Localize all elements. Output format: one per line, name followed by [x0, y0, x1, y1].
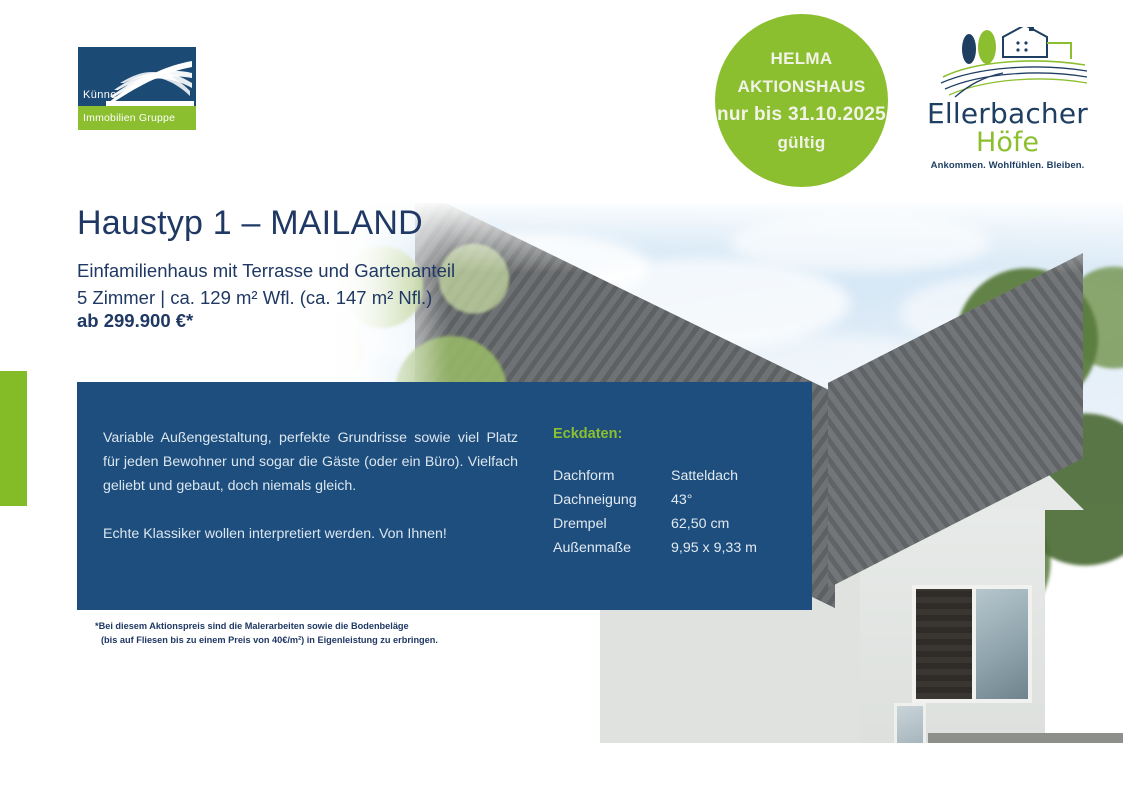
- specs-block: Eckdaten: Dachform Satteldach Dachneigun…: [553, 426, 757, 560]
- info-panel: Variable Außengestaltung, perfekte Grund…: [77, 382, 812, 610]
- flyer-page: Künne Immobilien Gruppe HELMA AKTIONSHAU…: [0, 0, 1123, 794]
- page-subtitle: Einfamilienhaus mit Terrasse und Gartena…: [77, 258, 455, 311]
- spec-key: Dachneigung: [553, 488, 671, 512]
- spec-key: Drempel: [553, 512, 671, 536]
- specs-heading: Eckdaten:: [553, 426, 757, 442]
- small-window: [894, 703, 926, 743]
- ellerbacher-hoefe-logo[interactable]: Ellerbacher Höfe Ankommen. Wohlfühlen. B…: [925, 27, 1090, 182]
- kunne-logo[interactable]: Künne Immobilien Gruppe: [78, 47, 196, 130]
- spec-value: 62,50 cm: [671, 512, 729, 536]
- page-title: Haustyp 1 – MAILAND: [77, 204, 423, 243]
- footnote-line-1: *Bei diesem Aktionspreis sind die Malera…: [95, 619, 438, 633]
- carport-roof: [928, 733, 1123, 743]
- kunne-subtitle: Immobilien Gruppe: [78, 112, 175, 124]
- footnote: *Bei diesem Aktionspreis sind die Malera…: [95, 619, 438, 647]
- kunne-name: Künne: [83, 89, 117, 101]
- kunne-subtitle-bar: Immobilien Gruppe: [78, 106, 196, 130]
- subtitle-line-1: Einfamilienhaus mit Terrasse und Gartena…: [77, 258, 455, 285]
- subtitle-line-2: 5 Zimmer | ca. 129 m² Wfl. (ca. 147 m² N…: [77, 285, 455, 312]
- gable-window: [972, 585, 1032, 703]
- spec-value: 43°: [671, 488, 692, 512]
- green-accent-bar: [0, 371, 27, 506]
- gable-dark-panel: [912, 585, 980, 703]
- logo-tagline: Ankommen. Wohlfühlen. Bleiben.: [925, 160, 1090, 171]
- price-label: ab 299.900 €*: [77, 310, 193, 332]
- table-row: Dachform Satteldach: [553, 464, 757, 488]
- logo-name-primary: Ellerbacher: [925, 99, 1090, 129]
- description-text: Variable Außengestaltung, perfekte Grund…: [103, 426, 518, 546]
- badge-line-2: AKTIONSHAUS: [738, 73, 866, 101]
- table-row: Dachneigung 43°: [553, 488, 757, 512]
- table-row: Außenmaße 9,95 x 9,33 m: [553, 536, 757, 560]
- description-paragraph-2: Echte Klassiker wollen interpretiert wer…: [103, 522, 518, 546]
- bottom-margin: [0, 744, 1123, 794]
- badge-line-4: gültig: [777, 129, 825, 157]
- spec-value: 9,95 x 9,33 m: [671, 536, 757, 560]
- badge-line-1: HELMA: [771, 45, 833, 73]
- description-paragraph-1: Variable Außengestaltung, perfekte Grund…: [103, 426, 518, 498]
- spec-key: Außenmaße: [553, 536, 671, 560]
- farmhouse-field-icon: [925, 27, 1090, 99]
- promo-badge[interactable]: HELMA AKTIONSHAUS nur bis 31.10.2025 gül…: [715, 14, 888, 187]
- spec-key: Dachform: [553, 464, 671, 488]
- table-row: Drempel 62,50 cm: [553, 512, 757, 536]
- badge-line-3: nur bis 31.10.2025: [717, 101, 886, 129]
- logo-name-secondary: Höfe: [925, 129, 1090, 157]
- footnote-line-2: (bis auf Fliesen bis zu einem Preis von …: [95, 633, 438, 647]
- spec-value: Satteldach: [671, 464, 738, 488]
- kunne-logo-mark: Künne: [78, 47, 196, 106]
